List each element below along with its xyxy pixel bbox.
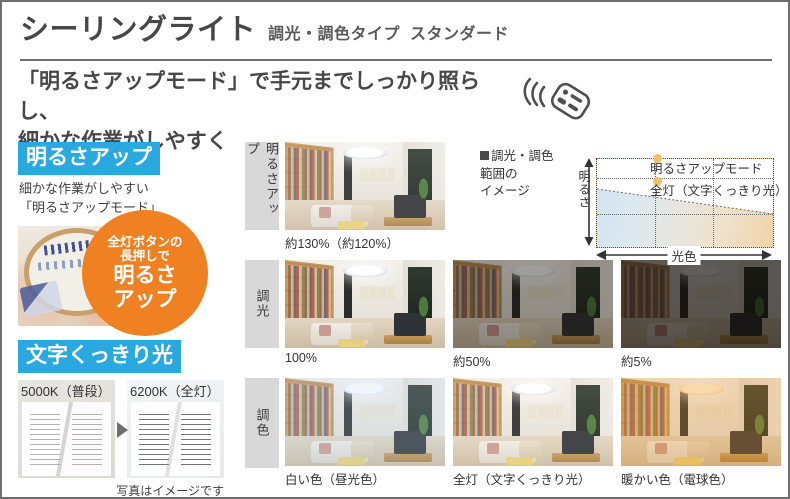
comparison-arrow-icon	[117, 422, 128, 438]
book-text-lines-right	[72, 414, 102, 466]
room-light-tint	[621, 260, 781, 348]
room-light-tint	[285, 378, 445, 466]
chart-title-line-3: イメージ	[480, 184, 530, 198]
grid-cell: 全灯（文字くっきり光）	[453, 378, 613, 488]
grid-cell: 約50%	[453, 260, 613, 370]
photo-caption: 全灯（文字くっきり光）	[453, 466, 613, 488]
photo-caption: 暖かい色（電球色）	[621, 466, 781, 488]
room-photo	[285, 142, 445, 230]
room-scene	[285, 142, 445, 230]
chart-title: 調光・調色 範囲の イメージ	[480, 148, 566, 201]
row-cells: 100%約50%約5%	[285, 260, 781, 370]
grid-cell: 100%	[285, 260, 445, 370]
remote-control-icon	[510, 74, 600, 126]
book-page-6200k	[131, 402, 220, 476]
grid-row: 調光100%約50%約5%	[245, 260, 773, 370]
photo-caption: 白い色（昼光色）	[285, 466, 445, 488]
page-header: シーリングライト 調光・調色タイプスタンダード	[20, 16, 772, 45]
book-page-5000k	[22, 402, 111, 476]
brightness-lead-line-1: 細かな作業がしやすい	[19, 180, 162, 199]
book-text-lines-right-2	[181, 414, 211, 466]
room-scene	[285, 378, 445, 466]
left-feature-column: 明るさアップ 細かな作業がしやすい 「明るさアップモード」 全灯ボタンの 長押し…	[18, 142, 236, 492]
room-photo	[621, 378, 781, 466]
y-axis-label: 明るさ	[576, 170, 593, 209]
callout-line-1: 全灯ボタンの	[107, 235, 182, 249]
chart-annotation-full-light: 全灯（文字くっきり光）	[650, 180, 788, 199]
row-label-2: 調色	[245, 378, 279, 468]
x-axis: 光色	[596, 248, 772, 262]
row-cells: 約130%（約120%）	[285, 142, 445, 252]
room-light-tint	[453, 260, 613, 348]
book-text-lines-left-2	[139, 414, 169, 466]
callout-line-3: 明るさ	[114, 265, 177, 287]
room-photo	[285, 260, 445, 348]
room-photo	[621, 260, 781, 348]
book-photo-6200k: 6200K（全灯）	[127, 380, 224, 478]
subtitle-grade: スタンダード	[410, 26, 509, 43]
room-light-tint	[285, 260, 445, 348]
photo-caption: 約130%（約120%）	[285, 230, 445, 252]
photo-caption: 約50%	[453, 348, 613, 370]
photo-disclaimer: 写真はイメージです	[18, 482, 224, 499]
badge-clear-text-light-label: 文字くっきり光	[18, 340, 181, 373]
room-photo	[453, 260, 613, 348]
grid-cell: 約5%	[621, 260, 781, 370]
room-scene	[621, 260, 781, 348]
chart-title-line-2: 範囲の	[480, 167, 518, 181]
badge-brightness-up: 明るさアップ	[18, 142, 160, 175]
book-photo-5000k: 5000K（普段）	[18, 380, 115, 478]
book-label-6200k: 6200K（全灯）	[130, 381, 220, 400]
row-label-0: 明るさアップ	[245, 142, 279, 230]
grid-cell: 約130%（約120%）	[285, 142, 445, 252]
grid-row: 調色白い色（昼光色）全灯（文字くっきり光）暖かい色（電球色）	[245, 378, 773, 490]
catalog-page: シーリングライト 調光・調色タイプスタンダード 「明るさアップモード」で手元まで…	[0, 0, 790, 499]
callout-line-2: 長押しで	[120, 249, 170, 263]
page-title: シーリングライト	[20, 16, 256, 45]
page-subtitle: 調光・調色タイプスタンダード	[268, 20, 509, 44]
dimming-range-chart: 調光・調色 範囲の イメージ 明るさ	[480, 142, 776, 260]
photo-caption: 約5%	[621, 348, 781, 370]
callout-line-4: アップ	[114, 289, 177, 311]
room-light-tint	[453, 378, 613, 466]
column-divider	[240, 140, 241, 492]
book-text-lines-left	[30, 414, 60, 466]
row-cells: 白い色（昼光色）全灯（文字くっきり光）暖かい色（電球色）	[285, 378, 781, 488]
row-label-1: 調光	[245, 260, 279, 348]
chart-title-line-1: 調光・調色	[491, 149, 554, 163]
room-scene	[285, 260, 445, 348]
book-comparison: 5000K（普段） 6200K（全灯）	[18, 380, 224, 478]
room-scene	[453, 260, 613, 348]
badge-clear-text-light: 文字くっきり光	[18, 340, 181, 373]
chart-gridline-h2	[597, 214, 773, 215]
header-divider	[20, 59, 772, 61]
bullet-square-icon	[480, 151, 489, 160]
book-label-5000k: 5000K（普段）	[21, 381, 111, 400]
brightness-up-callout: 全灯ボタンの 長押しで 明るさ アップ	[82, 210, 208, 336]
room-light-tint	[285, 142, 445, 230]
grid-cell: 暖かい色（電球色）	[621, 378, 781, 488]
subtitle-type: 調光・調色タイプ	[268, 26, 400, 43]
grid-cell: 白い色（昼光色）	[285, 378, 445, 488]
room-scene	[453, 378, 613, 466]
room-scene	[621, 378, 781, 466]
room-light-tint	[621, 378, 781, 466]
x-axis-label: 光色	[667, 246, 700, 265]
photo-caption: 100%	[285, 348, 445, 365]
chart-annotation-brightness-up: 明るさアップモード	[650, 158, 763, 177]
room-photo	[285, 378, 445, 466]
headline-line-1: 「明るさアップモード」で手元までしっかり照らし、	[18, 67, 518, 127]
room-photo	[453, 378, 613, 466]
badge-brightness-up-label: 明るさアップ	[18, 142, 160, 175]
